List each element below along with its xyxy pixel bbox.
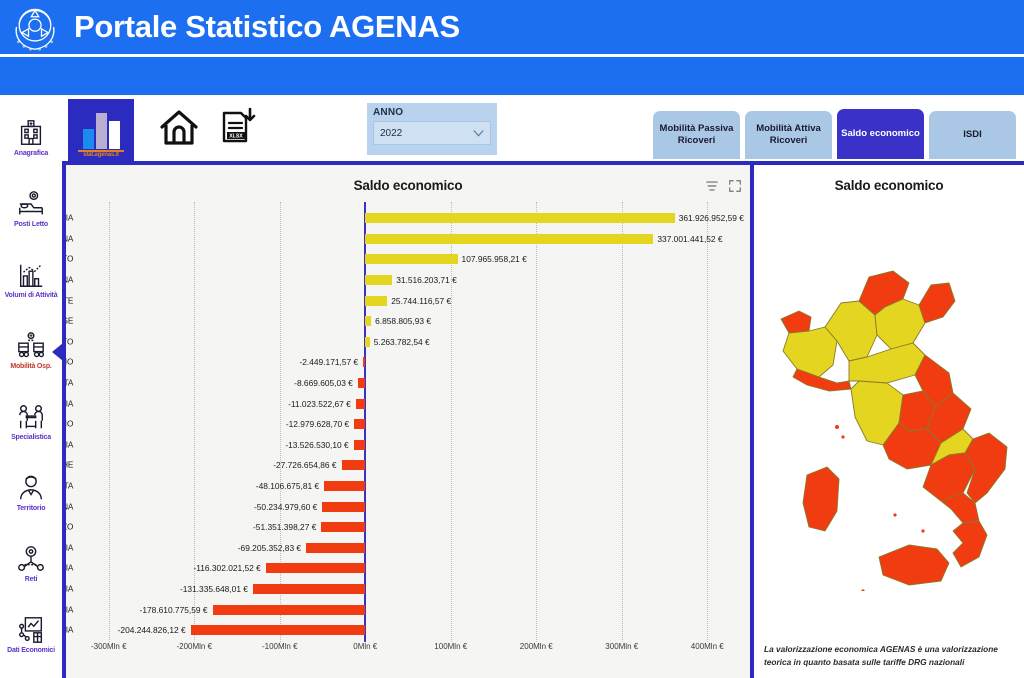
chart-category-label: VENETO (66, 255, 73, 264)
chart-value-label: -131.335.648,01 € (180, 584, 248, 594)
sidebar-item-reti[interactable]: Reti (0, 529, 62, 600)
map-title: Saldo economico (754, 165, 1024, 193)
chart-value-label: 107.965.958,21 € (462, 254, 527, 264)
chart-bar[interactable] (266, 563, 365, 573)
brand-logo-button[interactable]: stat.agenas.it (68, 99, 134, 161)
xlsx-download-icon[interactable]: XLSX (217, 107, 257, 147)
chart-bar-row[interactable]: P.A. TRENTO5.263.782,54 € (66, 332, 750, 353)
hospital-bed-icon (16, 189, 46, 219)
sidebar-item-label: Posti Letto (14, 221, 48, 229)
chart-bar[interactable] (322, 502, 365, 512)
hospital-building-icon (16, 118, 46, 148)
chart-category-label: P.A. BOLZANO (66, 358, 73, 367)
chart-value-label: -8.669.605,03 € (294, 378, 353, 388)
tab-saldo-economico[interactable]: Saldo economico (837, 109, 924, 159)
chart-value-label: -2.449.171,57 € (299, 357, 358, 367)
chart-bars-container: LOMBARDIA361.926.952,59 €EMILIA-ROMAGNA3… (66, 208, 750, 640)
chart-bar-row[interactable]: P.A. BOLZANO-2.449.171,57 € (66, 352, 750, 373)
chart-panel-tools (705, 179, 742, 193)
sidebar-item-anagrafica[interactable]: Anagrafica (0, 103, 62, 174)
chart-value-label: -11.023.522,67 € (288, 399, 351, 409)
year-select-value: 2022 (380, 128, 402, 139)
chart-category-label: LIGURIA (66, 543, 73, 552)
chart-category-label: FRIULI-VENEZIA GIULIA (66, 440, 73, 449)
page-header: Portale Statistico AGENAS (0, 0, 1024, 54)
chart-value-label: 361.926.952,59 € (679, 213, 744, 223)
sidebar-item-volumi-attivita[interactable]: Volumi di Attività (0, 245, 62, 316)
chart-bar[interactable] (342, 460, 366, 470)
chart-category-label: CAMPANIA (66, 626, 73, 635)
chart-bar-row[interactable]: PIEMONTE25.744.116,57 € (66, 290, 750, 311)
chart-value-label: -12.979.628,70 € (286, 419, 349, 429)
chart-value-label: 31.516.203,71 € (396, 275, 457, 285)
bar-chart-trend-icon (16, 260, 46, 290)
chart-category-label: PUGLIA (66, 564, 73, 573)
chart-bar[interactable] (321, 522, 365, 532)
chart-bar[interactable] (365, 316, 371, 326)
content-frame: Saldo economico (62, 161, 1024, 678)
chart-value-label: 337.001.441,52 € (657, 234, 722, 244)
chart-bar[interactable] (358, 378, 365, 388)
chart-value-label: -27.726.654,86 € (273, 460, 336, 470)
sidebar-item-label: Mobilità Osp. (10, 363, 51, 371)
chart-category-label: SICILIA (66, 584, 73, 593)
doctor-patient-icon (16, 402, 46, 432)
network-nodes-icon (16, 544, 46, 574)
chart-bar[interactable] (213, 605, 366, 615)
chart-bar-row[interactable]: MOLISE6.858.805,93 € (66, 311, 750, 332)
sidebar-item-posti-letto[interactable]: Posti Letto (0, 174, 62, 245)
chart-value-label: 5.263.782,54 € (374, 337, 430, 347)
chart-bar[interactable] (253, 584, 365, 594)
sidebar-item-specialistica[interactable]: Specialistica (0, 387, 62, 458)
chart-category-label: UMBRIA (66, 399, 73, 408)
chart-category-label: BASILICATA (66, 482, 73, 491)
tab-isdi[interactable]: ISDI (929, 111, 1016, 159)
page-title: Portale Statistico AGENAS (74, 9, 460, 45)
chart-bar[interactable] (306, 543, 365, 553)
tab-mobilita-passiva-ricoveri[interactable]: Mobilità Passiva Ricoveri (653, 111, 740, 159)
sidebar-item-label: Anagrafica (14, 150, 48, 158)
sidebar-item-label: Reti (25, 576, 37, 584)
chart-value-label: -13.526.530,10 € (285, 440, 348, 450)
chart-value-label: -50.234.979,60 € (254, 502, 317, 512)
chart-bar-row[interactable]: PUGLIA-116.302.021,52 € (66, 558, 750, 579)
sidebar-item-label: Volumi di Attività (5, 292, 58, 300)
chart-bar-row[interactable]: LOMBARDIA361.926.952,59 € (66, 208, 750, 229)
chart-bar-row[interactable]: VENETO107.965.958,21 € (66, 249, 750, 270)
chart-value-label: 25.744.116,57 € (391, 296, 451, 306)
chart-bar-row[interactable]: LAZIO-12.979.628,70 € (66, 414, 750, 435)
chart-bar[interactable] (365, 337, 370, 347)
year-filter-label: ANNO (373, 107, 491, 118)
chart-bar[interactable] (191, 625, 366, 635)
saldo-economico-map-panel: Saldo economico (754, 165, 1024, 678)
chart-category-label: VALLE D'AOSTA (66, 379, 73, 388)
chart-bar-row[interactable]: FRIULI-VENEZIA GIULIA-13.526.530,10 € (66, 435, 750, 456)
chart-category-label: LOMBARDIA (66, 214, 73, 223)
italy-choropleth-map-icon (763, 231, 1015, 591)
chart-bar[interactable] (354, 440, 366, 450)
section-tabs: Mobilità Passiva Ricoveri Mobilità Attiv… (653, 109, 1024, 159)
chart-axis-tick: -300Mln € (91, 642, 127, 651)
chart-bar[interactable] (365, 296, 387, 306)
chart-bar[interactable] (324, 481, 365, 491)
chart-x-axis: -300Mln €-200Mln €-100Mln €0Mln €100Mln … (66, 642, 750, 662)
focus-mode-icon[interactable] (728, 179, 742, 193)
chart-category-label: PIEMONTE (66, 296, 73, 305)
health-worker-icon (16, 473, 46, 503)
chart-bar-row[interactable]: BASILICATA-48.106.675,81 € (66, 476, 750, 497)
chart-bar[interactable] (356, 399, 365, 409)
chart-bar-row[interactable]: SARDEGNA-50.234.979,60 € (66, 496, 750, 517)
sidebar-item-territorio[interactable]: Territorio (0, 458, 62, 529)
sidebar-item-label: Territorio (17, 505, 46, 513)
sidebar-item-mobilita-osp[interactable]: Mobilità Osp. (0, 316, 62, 387)
italy-map-container[interactable] (754, 211, 1024, 611)
chart-category-label: EMILIA-ROMAGNA (66, 234, 73, 243)
chart-category-label: CALABRIA (66, 605, 73, 614)
italian-republic-emblem-icon (6, 1, 64, 53)
chart-bar-row[interactable]: MARCHE-27.726.654,86 € (66, 455, 750, 476)
chart-axis-tick: -200Mln € (176, 642, 212, 651)
sidebar-item-dati-economici[interactable]: Dati Economici (0, 600, 62, 671)
chart-bar[interactable] (354, 419, 365, 429)
chart-bar[interactable] (363, 357, 365, 367)
header-secondary-band (0, 57, 1024, 95)
chart-bar-row[interactable]: SICILIA-131.335.648,01 € (66, 579, 750, 600)
chart-category-label: LAZIO (66, 420, 73, 429)
brand-label: stat.agenas.it (83, 152, 119, 158)
chart-axis-tick: 200Mln € (520, 642, 553, 651)
chart-bar-row[interactable]: CALABRIA-178.610.775,59 € (66, 599, 750, 620)
chevron-down-icon (473, 130, 484, 137)
agenas-statistics-portal: Portale Statistico AGENAS Anagrafica (0, 0, 1024, 678)
chart-category-label: MOLISE (66, 317, 73, 326)
chart-bar-row[interactable]: LIGURIA-69.205.352,83 € (66, 538, 750, 559)
svg-text:XLSX: XLSX (229, 134, 243, 140)
chart-bar[interactable] (365, 234, 653, 244)
chart-axis-tick: 0Mln € (353, 642, 377, 651)
chart-bar-row[interactable]: UMBRIA-11.023.522,67 € (66, 393, 750, 414)
map-footnote: La valorizzazione economica AGENAS è una… (764, 643, 1016, 668)
bar-chart-logo-icon (83, 111, 120, 149)
chart-axis-tick: 300Mln € (605, 642, 638, 651)
chart-bar-row[interactable]: TOSCANA31.516.203,71 € (66, 270, 750, 291)
chart-bar[interactable] (365, 275, 392, 285)
chart-axis-tick: 400Mln € (691, 642, 724, 651)
chart-category-label: MARCHE (66, 461, 73, 470)
chart-category-label: ABRUZZO (66, 523, 73, 532)
chart-axis-tick: 100Mln € (434, 642, 467, 651)
filter-icon[interactable] (705, 179, 719, 193)
chart-category-label: P.A. TRENTO (66, 337, 73, 346)
chart-bar-row[interactable]: CAMPANIA-204.244.826,12 € (66, 620, 750, 641)
chart-bar[interactable] (365, 213, 674, 223)
tab-mobilita-attiva-ricoveri[interactable]: Mobilità Attiva Ricoveri (745, 111, 832, 159)
year-select[interactable]: 2022 (373, 121, 491, 145)
sidebar-item-label: Specialistica (11, 434, 51, 442)
chart-value-label: -178.610.775,59 € (140, 605, 208, 615)
chart-value-label: -48.106.675,81 € (256, 481, 319, 491)
chart-bar[interactable] (365, 254, 457, 264)
saldo-economico-chart-panel: Saldo economico (66, 165, 750, 678)
ambulance-transfer-icon (16, 331, 46, 361)
chart-plot-area: LOMBARDIA361.926.952,59 €EMILIA-ROMAGNA3… (66, 202, 750, 642)
chart-bar-row[interactable]: ABRUZZO-51.351.398,27 € (66, 517, 750, 538)
economic-data-icon (16, 615, 46, 645)
chart-title: Saldo economico (66, 165, 750, 193)
sidebar-item-label: Dati Economici (7, 647, 55, 655)
chart-value-label: -116.302.021,52 € (193, 563, 260, 573)
chart-axis-tick: -100Mln € (262, 642, 298, 651)
home-icon[interactable] (158, 107, 200, 147)
chart-bar-row[interactable]: VALLE D'AOSTA-8.669.605,03 € (66, 373, 750, 394)
chart-value-label: -51.351.398,27 € (253, 522, 316, 532)
year-filter: ANNO 2022 (367, 103, 497, 155)
chart-category-label: TOSCANA (66, 276, 73, 285)
chart-value-label: 6.858.805,93 € (375, 316, 431, 326)
chart-value-label: -69.205.352,83 € (238, 543, 301, 553)
chart-bar-row[interactable]: EMILIA-ROMAGNA337.001.441,52 € (66, 229, 750, 250)
chart-value-label: -204.244.826,12 € (118, 625, 186, 635)
left-sidebar: Anagrafica Posti Letto (0, 95, 62, 678)
chart-category-label: SARDEGNA (66, 502, 73, 511)
